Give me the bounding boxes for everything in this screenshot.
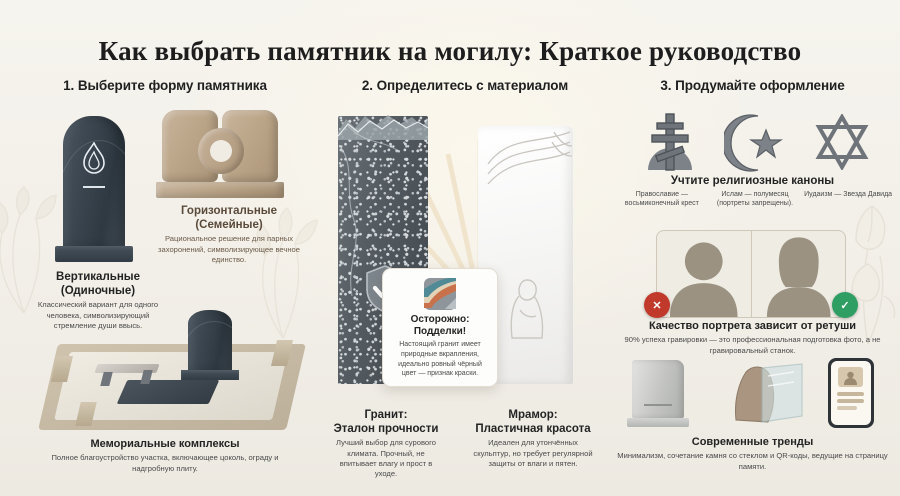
religious-symbols-row — [628, 112, 878, 174]
flame-engraving-icon — [80, 142, 108, 178]
horizontal-heading-line2: (Семейные) — [195, 219, 262, 231]
modern-trends-caption: Современные тренды Минимализм, сочетание… — [610, 436, 895, 472]
modern-trends-icons — [628, 356, 882, 434]
islam-caption: Ислам — полумесяц (портреты запрещены). — [708, 190, 803, 209]
smartphone-memorial-page-icon — [828, 358, 874, 428]
column-material-header: 2. Определитесь с материалом — [320, 78, 610, 93]
column-shape-header: 1. Выберите форму памятника — [10, 78, 320, 93]
orthodox-cross-icon — [642, 112, 698, 172]
horizontal-monument-text: Рациональное решение для парных захороне… — [143, 234, 315, 265]
religious-symbol-captions: Православие — восьмиконечный крест Ислам… — [616, 190, 894, 209]
star-of-david-icon — [814, 114, 870, 170]
reject-badge-glyph: ✕ — [652, 299, 661, 312]
warning-text: Настоящий гранит имеет природные вкрапле… — [390, 340, 490, 379]
reject-badge: ✕ — [644, 292, 670, 318]
granite-text: Лучший выбор для сурового климата. Прочн… — [320, 438, 452, 480]
horizontal-heading-line1: Горизонтальные — [181, 205, 277, 217]
marble-heading-line1: Мрамор: — [508, 409, 557, 421]
vertical-headstone-icon — [55, 116, 133, 268]
column-shape: 1. Выберите форму памятника Вертикальные… — [10, 78, 320, 496]
judaism-caption: Иудаизм — Звезда Давида — [802, 190, 894, 209]
orthodox-caption: Православие — восьмиконечный крест — [616, 190, 708, 209]
mourning-figure-relief — [506, 276, 548, 342]
memorial-complex-caption: Мемориальные комплексы Полное благоустро… — [20, 438, 310, 474]
memorial-complex-heading: Мемориальные комплексы — [20, 438, 310, 451]
memorial-plot-icon — [38, 310, 306, 438]
column-design-header: 3. Продумайте оформление — [610, 78, 895, 93]
counterfeit-warning-card: Осторожно:Подделки! Настоящий гранит име… — [382, 268, 498, 387]
approve-badge-glyph: ✓ — [840, 299, 849, 312]
paint-peel-sample-icon — [423, 277, 457, 311]
drapery-relief — [482, 130, 574, 204]
horizontal-monument-caption: Горизонтальные(Семейные) Рациональное ре… — [143, 204, 315, 265]
column-design: 3. Продумайте оформление — [610, 78, 895, 496]
portrait-pair-icon: ✕ ✓ — [656, 230, 846, 318]
female-silhouette-icon — [752, 231, 846, 317]
columns-container: 1. Выберите форму памятника Вертикальные… — [0, 78, 900, 496]
vertical-heading-line1: Вертикальные — [56, 271, 140, 283]
double-arch-family-stone-icon — [156, 106, 284, 202]
page-title: Как выбрать памятник на могилу: Краткое … — [0, 36, 900, 67]
marble-heading-line2: Пластичная красота — [475, 423, 590, 435]
minimalist-stone-icon — [632, 360, 689, 427]
granite-heading-line1: Гранит: — [365, 409, 408, 421]
modern-trends-text: Минимализм, сочетание камня со стеклом и… — [610, 451, 895, 472]
religious-canons-heading: Учтите религиозные каноны — [610, 174, 895, 188]
infographic-poster: Как выбрать памятник на могилу: Краткое … — [0, 0, 900, 496]
portrait-quality-heading: Качество портрета зависит от ретуши — [610, 320, 895, 333]
approve-badge: ✓ — [832, 292, 858, 318]
warning-heading-line1: Осторожно: — [411, 314, 470, 325]
column-material: 2. Определитесь с материалом — [320, 78, 610, 496]
granite-heading-line2: Эталон прочности — [334, 423, 439, 435]
stone-and-glass-icon — [732, 362, 808, 426]
male-silhouette-icon — [657, 231, 751, 317]
vertical-heading-line2: (Одиночные) — [61, 285, 135, 297]
portrait-quality-caption: Качество портрета зависит от ретуши 90% … — [610, 320, 895, 356]
granite-caption: Гранит:Эталон прочности Лучший выбор для… — [320, 408, 452, 480]
marble-caption: Мрамор:Пластичная красота Идеален для ут… — [460, 408, 606, 469]
marble-text: Идеален для утончённых скульптур, но тре… — [460, 438, 606, 469]
modern-trends-heading: Современные тренды — [610, 436, 895, 449]
warning-heading-line2: Подделки! — [414, 326, 466, 337]
memorial-complex-text: Полное благоустройство участка, включающ… — [20, 453, 310, 474]
crescent-star-icon — [724, 114, 784, 172]
portrait-quality-text: 90% успеха гравировки — это профессионал… — [610, 335, 895, 356]
